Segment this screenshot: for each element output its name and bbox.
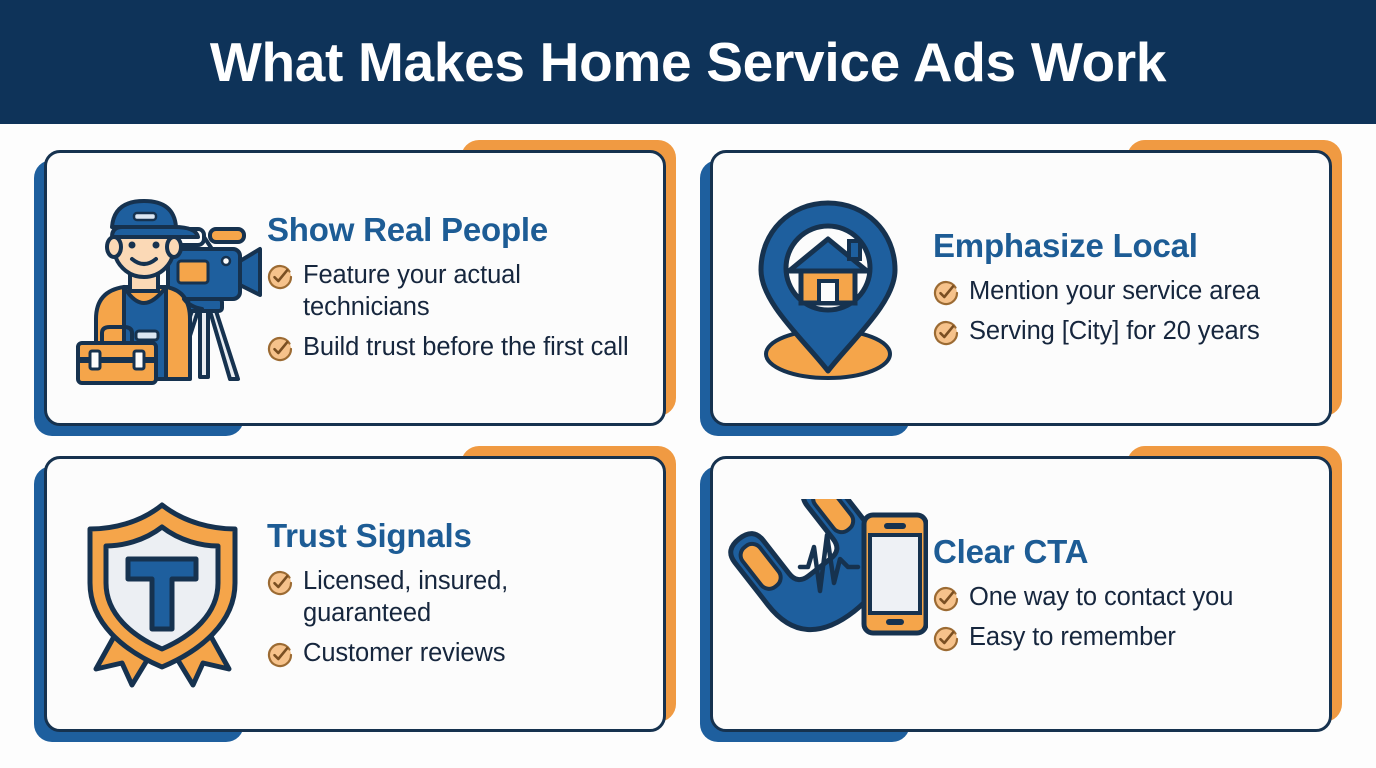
list-item: Serving [City] for 20 years — [933, 315, 1305, 347]
check-circle-icon — [933, 320, 959, 346]
card-title: Clear CTA — [933, 534, 1305, 570]
bullet-text: Easy to remember — [969, 621, 1176, 653]
card-surface: Trust Signals Licensed, insured, guarant… — [44, 456, 666, 732]
check-circle-icon — [267, 264, 293, 290]
list-item: Mention your service area — [933, 275, 1305, 307]
card-surface: Show Real People Feature your actual tec… — [44, 150, 666, 426]
list-item: Easy to remember — [933, 621, 1305, 653]
card-content: Show Real People Feature your actual tec… — [267, 212, 647, 363]
card-title: Emphasize Local — [933, 228, 1305, 264]
card-trust-signals[interactable]: Trust Signals Licensed, insured, guarant… — [44, 456, 666, 732]
bullet-text: One way to contact you — [969, 581, 1233, 613]
card-surface: Clear CTA One way to contact you — [710, 456, 1332, 732]
card-surface: Emphasize Local Mention your service are… — [710, 150, 1332, 426]
card-content: Trust Signals Licensed, insured, guarant… — [267, 518, 647, 669]
list-item: Feature your actual technicians — [267, 259, 639, 324]
bullet-text: Customer reviews — [303, 637, 505, 669]
card-show-real-people[interactable]: Show Real People Feature your actual tec… — [44, 150, 666, 426]
bullet-list: Mention your service area Serving [City]… — [933, 275, 1305, 348]
map-pin-house-icon — [723, 188, 933, 388]
bullet-list: Feature your actual technicians Build tr… — [267, 259, 639, 364]
bullet-text: Licensed, insured, guaranteed — [303, 565, 639, 630]
bullet-list: Licensed, insured, guaranteed Customer r… — [267, 565, 639, 670]
bullet-text: Serving [City] for 20 years — [969, 315, 1260, 347]
card-emphasize-local[interactable]: Emphasize Local Mention your service are… — [710, 150, 1332, 426]
technician-with-video-camera-icon — [57, 188, 267, 388]
card-grid: Show Real People Feature your actual tec… — [0, 124, 1376, 768]
check-circle-icon — [267, 570, 293, 596]
list-item: Licensed, insured, guaranteed — [267, 565, 639, 630]
bullet-text: Mention your service area — [969, 275, 1260, 307]
list-item: Customer reviews — [267, 637, 639, 669]
card-content: Clear CTA One way to contact you — [933, 534, 1313, 653]
page-header: What Makes Home Service Ads Work — [0, 0, 1376, 124]
page-title: What Makes Home Service Ads Work — [210, 35, 1166, 90]
card-title: Show Real People — [267, 212, 639, 248]
bullet-text: Feature your actual technicians — [303, 259, 639, 324]
card-content: Emphasize Local Mention your service are… — [933, 228, 1313, 347]
card-clear-cta[interactable]: Clear CTA One way to contact you — [710, 456, 1332, 732]
check-circle-icon — [933, 626, 959, 652]
check-circle-icon — [267, 336, 293, 362]
card-title: Trust Signals — [267, 518, 639, 554]
check-circle-icon — [933, 586, 959, 612]
list-item: One way to contact you — [933, 581, 1305, 613]
phone-handset-smartphone-icon — [723, 494, 933, 694]
shield-badge-ribbon-icon — [57, 494, 267, 694]
bullet-text: Build trust before the first call — [303, 331, 629, 363]
bullet-list: One way to contact you Easy to remember — [933, 581, 1305, 654]
check-circle-icon — [933, 280, 959, 306]
check-circle-icon — [267, 642, 293, 668]
list-item: Build trust before the first call — [267, 331, 639, 363]
